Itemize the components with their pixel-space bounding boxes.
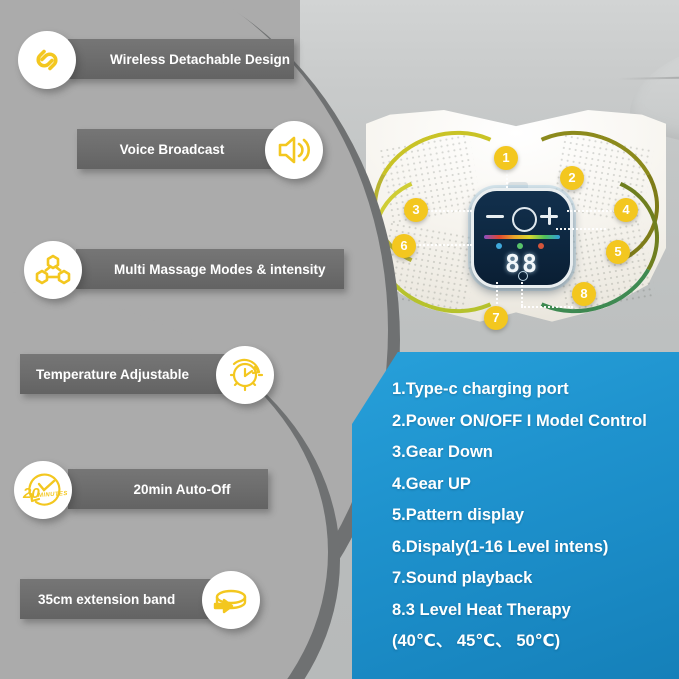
feature-pill-autooff[interactable]: 20min Auto-Off [68,469,268,509]
mode-gradient-bar [484,235,560,239]
spec-item: 5.Pattern display [392,500,671,532]
plus-icon[interactable] [540,207,558,225]
feature-label-voice: Voice Broadcast [77,142,285,157]
callout-badge-3[interactable]: 3 [404,198,428,222]
massager-device: 88 1 2 3 4 5 6 7 8 [366,110,666,340]
timer-icon [518,271,528,281]
speaker-icon [265,121,323,179]
spec-item: 6.Dispaly(1-16 Level intens) [392,532,671,564]
spec-panel: 1.Type-c charging port 2.Power ON/OFF I … [352,352,679,679]
leader-line-5 [556,228,606,230]
callout-badge-7[interactable]: 7 [484,306,508,330]
spec-item: 3.Gear Down [392,437,671,469]
leader-line-4 [567,210,615,212]
feature-pill-modes[interactable]: Multi Massage Modes & intensity [76,249,344,289]
belt-loop-icon [202,571,260,629]
callout-badge-8[interactable]: 8 [572,282,596,306]
callout-badge-5[interactable]: 5 [606,240,630,264]
spec-item: 4.Gear UP [392,469,671,501]
spec-item: 7.Sound playback [392,563,671,595]
feature-row-wireless: Wireless Detachable Design [18,31,308,89]
feature-label-modes: Multi Massage Modes & intensity [76,262,344,277]
callout-badge-1[interactable]: 1 [494,146,518,170]
leader-line-6 [416,244,472,246]
leader-line-3 [428,210,472,212]
feature-pill-wireless[interactable]: Wireless Detachable Design [68,39,294,79]
callout-badge-6[interactable]: 6 [392,234,416,258]
feature-label-wireless: Wireless Detachable Design [68,52,294,67]
spec-item: 2.Power ON/OFF I Model Control [392,406,671,438]
feature-pill-voice[interactable]: Voice Broadcast [77,129,285,169]
feature-label-autooff: 20min Auto-Off [68,482,268,497]
feature-row-autooff: 20min Auto-Off 20 MINUTES [14,461,294,519]
infographic-canvas: 88 1 2 3 4 5 6 7 8 Wireless Detachable D… [0,0,679,679]
callout-badge-4[interactable]: 4 [614,198,638,222]
molecule-icon [24,241,82,299]
spec-list: 1.Type-c charging port 2.Power ON/OFF I … [392,374,671,658]
feature-pill-band[interactable]: 35cm extension band [20,579,216,619]
feature-row-temperature: Temperature Adjustable [20,346,300,404]
feature-label-band: 35cm extension band [20,592,216,607]
spec-item: 8.3 Level Heat Therapy [392,595,671,627]
spec-item: (40℃、 45℃、 50℃) [392,626,671,658]
control-pod[interactable]: 88 [471,188,573,288]
callout-badge-2[interactable]: 2 [560,166,584,190]
feature-label-temperature: Temperature Adjustable [20,367,230,382]
spec-item: 1.Type-c charging port [392,374,671,406]
twenty-minutes-icon: 20 MINUTES [14,461,72,519]
power-button-icon[interactable] [512,207,537,232]
feature-row-voice: Voice Broadcast [77,121,340,179]
feature-pill-temperature[interactable]: Temperature Adjustable [20,354,230,394]
minus-icon[interactable] [486,215,504,218]
feature-row-band: 35cm extension band [20,571,286,629]
leader-line-8 [521,282,523,306]
link-icon [18,31,76,89]
clock-arrow-icon [216,346,274,404]
leader-line-8b [521,306,573,308]
feature-row-modes: Multi Massage Modes & intensity [24,241,324,299]
